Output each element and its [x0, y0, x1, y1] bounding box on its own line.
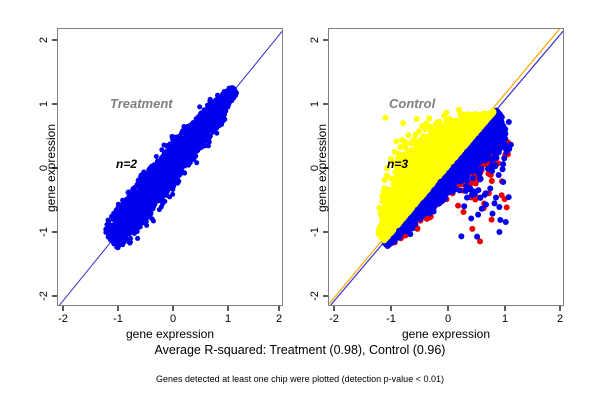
ytick-mark	[52, 295, 57, 297]
xtick-mark	[62, 306, 64, 311]
xtick-mark	[504, 306, 506, 311]
ytick-label: -2	[38, 286, 50, 306]
panel-treatment: 2 1 0 -1 -2 -2 -1 0 1 2 gene expression …	[0, 0, 300, 340]
xtick-label: -2	[43, 313, 83, 325]
xtick-label: -1	[98, 313, 138, 325]
caption-detection-note: Genes detected at least one chip were pl…	[0, 374, 600, 384]
yaxis-title-treatment: gene expression	[44, 68, 58, 268]
xtick-mark	[447, 306, 449, 311]
caption-r-squared: Average R-squared: Treatment (0.98), Con…	[0, 343, 600, 357]
panel-label-treatment: Treatment	[110, 96, 173, 111]
ytick-mark	[52, 39, 57, 41]
scatter-points-control	[329, 29, 564, 306]
xtick-label: 0	[428, 313, 468, 325]
figure-canvas: 2 1 0 -1 -2 -2 -1 0 1 2 gene expression …	[0, 0, 600, 400]
n-label-control: n=3	[387, 157, 408, 171]
xtick-mark	[227, 306, 229, 311]
xaxis-title-treatment: gene expression	[70, 327, 270, 341]
ytick-mark	[323, 295, 328, 297]
xtick-mark	[390, 306, 392, 311]
ytick-label: 2	[309, 30, 321, 50]
xtick-mark	[559, 306, 561, 311]
n-label-treatment: n=2	[116, 157, 137, 171]
panel-label-control: Control	[389, 96, 435, 111]
xtick-mark	[333, 306, 335, 311]
scatter-points-treatment	[58, 29, 283, 306]
xaxis-title-control: gene expression	[346, 327, 546, 341]
xtick-label: 2	[540, 313, 580, 325]
plot-area-treatment	[57, 28, 283, 306]
ytick-label: -2	[309, 286, 321, 306]
xtick-label: 1	[208, 313, 248, 325]
panel-control: 2 1 0 -1 -2 -2 -1 0 1 2 gene expression …	[300, 0, 600, 340]
ytick-mark	[323, 39, 328, 41]
xtick-mark	[172, 306, 174, 311]
xtick-mark	[117, 306, 119, 311]
ytick-label: 2	[38, 30, 50, 50]
xtick-label: -2	[314, 313, 354, 325]
plot-area-control	[328, 28, 564, 306]
xtick-label: 0	[153, 313, 193, 325]
xtick-mark	[278, 306, 280, 311]
xtick-label: 1	[485, 313, 525, 325]
xtick-label: -1	[371, 313, 411, 325]
yaxis-title-control: gene expression	[315, 68, 329, 268]
xtick-label: 2	[259, 313, 299, 325]
